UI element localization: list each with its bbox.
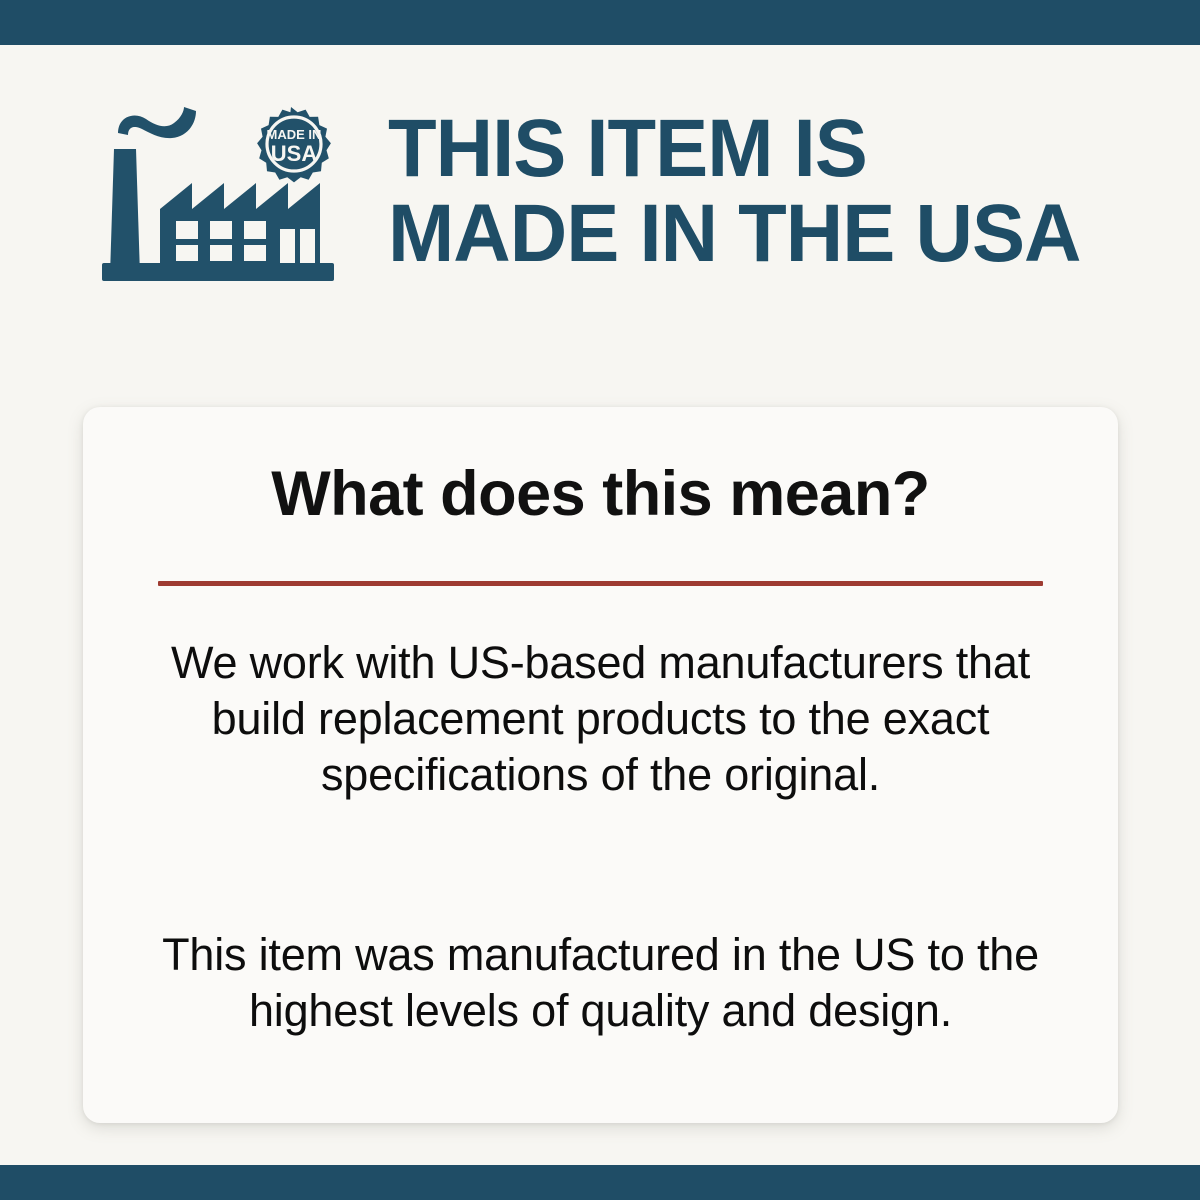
card-paragraph-1: We work with US-based manufacturers that…	[143, 635, 1058, 803]
badge-line1: MADE IN	[267, 127, 322, 142]
top-accent-bar	[0, 0, 1200, 45]
page-canvas: MADE IN USA THIS ITEM IS MADE IN THE USA…	[0, 45, 1200, 1165]
heading-divider	[158, 581, 1043, 586]
page-title: THIS ITEM IS MADE IN THE USA	[388, 106, 1145, 276]
headline-line-1: THIS ITEM IS	[388, 106, 1145, 191]
card-heading: What does this mean?	[83, 462, 1118, 526]
card-paragraph-2: This item was manufactured in the US to …	[143, 927, 1058, 1039]
badge-line2: USA	[271, 141, 318, 166]
bottom-accent-bar	[0, 1165, 1200, 1200]
factory-icon: MADE IN USA	[100, 105, 340, 285]
headline-line-2: MADE IN THE USA	[388, 191, 1145, 276]
header: MADE IN USA THIS ITEM IS MADE IN THE USA	[0, 100, 1200, 340]
info-card: What does this mean? We work with US-bas…	[83, 407, 1118, 1123]
